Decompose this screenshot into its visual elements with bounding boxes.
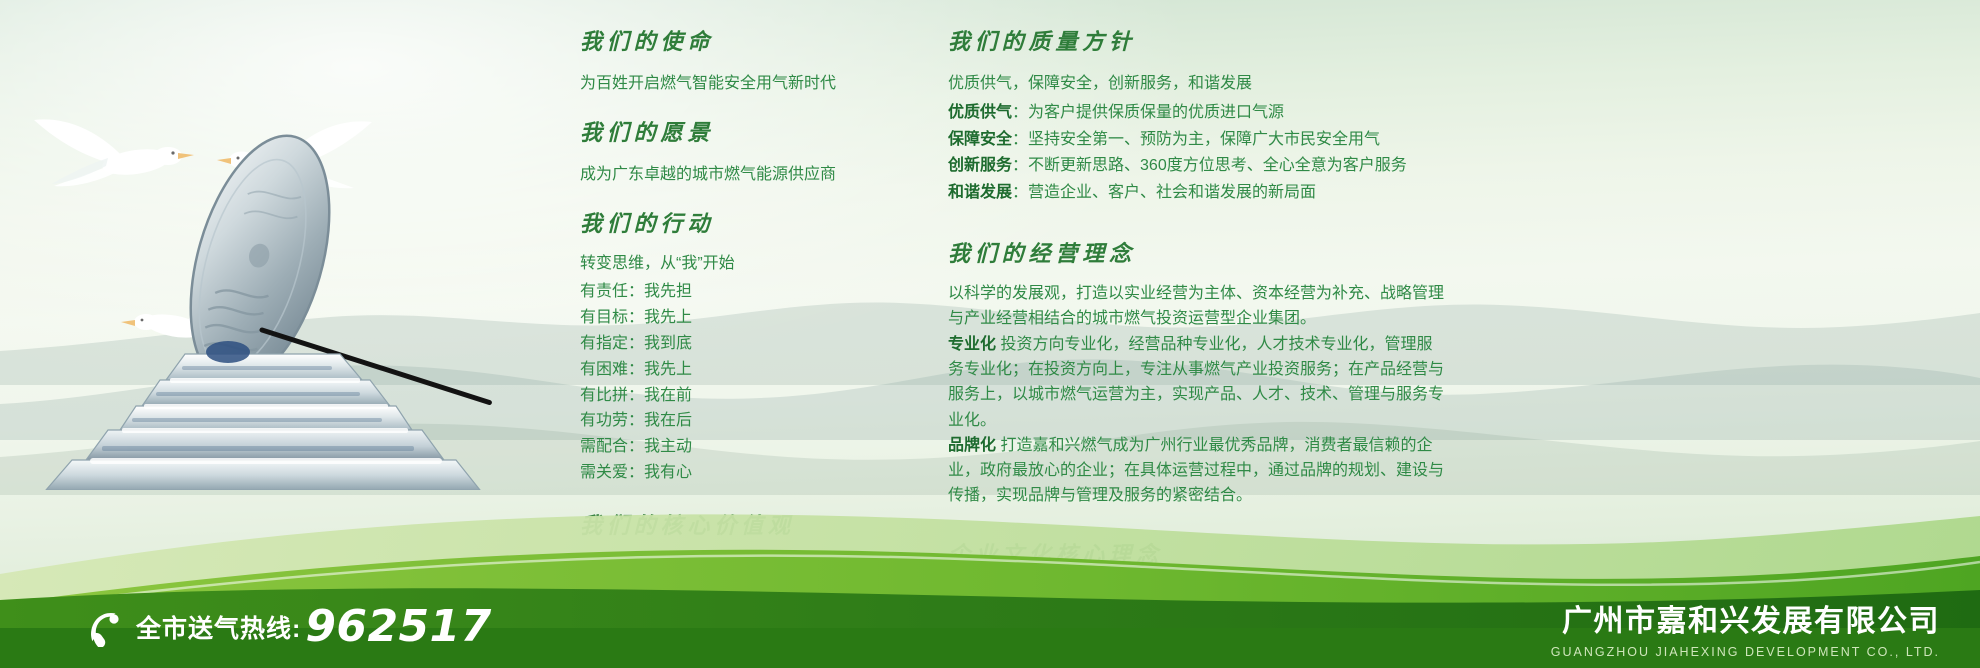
action-line: 转变思维，从“我”开始 <box>580 251 910 277</box>
section-vision: 我们的愿景 成为广东卓越的城市燃气能源供应商 <box>580 115 910 184</box>
action-line: 有困难：我先上 <box>580 357 910 383</box>
hotline-label: 全市送气热线: <box>136 609 301 645</box>
management-philosophy-points: 专业化 投资方向专业化，经营品种专业化，人才技术专业化，管理服务专业化；在投资方… <box>948 332 1448 509</box>
section-quality-policy: 我们的质量方针 优质供气，保障安全，创新服务，和谐发展 优质供气：为客户提供保质… <box>948 24 1448 206</box>
quality-policy-item-lead: 优质供气 <box>948 104 1012 121</box>
philosophy-point-lead: 专业化 <box>948 336 996 353</box>
mission-line: 为百姓开启燃气智能安全用气新时代 <box>580 69 910 93</box>
quality-policy-item-lead: 保障安全 <box>948 131 1012 148</box>
action-line: 需关爱：我有心 <box>580 460 910 486</box>
dove-icon-lower <box>116 278 266 360</box>
management-philosophy-intro: 以科学的发展观，打造以实业经营为主体、资本经营为补充、战略管理与产业经营相结合的… <box>948 281 1448 332</box>
culture-core-heading: 企业文化核心理念 <box>948 537 1448 569</box>
right-text-column: 我们的质量方针 优质供气，保障安全，创新服务，和谐发展 优质供气：为客户提供保质… <box>948 24 1448 606</box>
sundial-monument-image <box>10 130 530 490</box>
section-action: 我们的行动 转变思维，从“我”开始有责任：我先担有目标：我先上有指定：我到底有困… <box>580 206 910 486</box>
action-line: 有责任：我先担 <box>580 279 910 305</box>
left-text-column: 我们的使命 为百姓开启燃气智能安全用气新时代 我们的愿景 成为广东卓越的城市燃气… <box>580 24 910 631</box>
action-line: 有指定：我到底 <box>580 331 910 357</box>
quality-policy-item: 优质供气：为客户提供保质保量的优质进口气源 <box>948 100 1448 127</box>
action-line: 有目标：我先上 <box>580 305 910 331</box>
core-values-heading: 我们的核心价值观 <box>580 508 910 540</box>
quality-policy-item: 保障安全：坚持安全第一、预防为主，保障广大市民安全用气 <box>948 127 1448 154</box>
company-identity: 广州市嘉和兴发展有限公司 GUANGZHOU JIAHEXING DEVELOP… <box>1551 596 1980 659</box>
action-line: 有比拼：我在前 <box>580 383 910 409</box>
action-heading: 我们的行动 <box>580 206 910 238</box>
action-line-list: 转变思维，从“我”开始有责任：我先担有目标：我先上有指定：我到底有困难：我先上有… <box>580 251 910 486</box>
company-name-en: GUANGZHOU JIAHEXING DEVELOPMENT CO., LTD… <box>1551 645 1940 659</box>
management-philosophy-heading: 我们的经营理念 <box>948 236 1448 268</box>
company-name-cn: 广州市嘉和兴发展有限公司 <box>1551 596 1940 640</box>
core-value-item: 创新：永恒创新，精细不止 <box>580 553 910 579</box>
quality-policy-item: 创新服务：不断更新思路、360度方位思考、全心全意为客户服务 <box>948 153 1448 180</box>
mission-heading: 我们的使命 <box>580 24 910 56</box>
section-mission: 我们的使命 为百姓开启燃气智能安全用气新时代 <box>580 24 910 93</box>
vision-heading: 我们的愿景 <box>580 115 910 147</box>
action-line: 需配合：我主动 <box>580 434 910 460</box>
quality-policy-heading: 我们的质量方针 <box>948 24 1448 56</box>
philosophy-point: 品牌化 打造嘉和兴燃气成为广州行业最优秀品牌，消费者最信赖的企业，政府最放心的企… <box>948 433 1448 509</box>
quality-policy-item-lead: 创新服务 <box>948 157 1012 174</box>
philosophy-point: 专业化 投资方向专业化，经营品种专业化，人才技术专业化，管理服务专业化；在投资方… <box>948 332 1448 433</box>
phone-icon <box>84 607 124 647</box>
core-value-item-lead: 创新 <box>580 557 612 574</box>
quality-policy-summary: 优质供气，保障安全，创新服务，和谐发展 <box>948 69 1448 93</box>
quality-policy-list: 优质供气：为客户提供保质保量的优质进口气源保障安全：坚持安全第一、预防为主，保障… <box>948 100 1448 206</box>
philosophy-point-lead: 品牌化 <box>948 437 996 454</box>
dove-icon-upper <box>216 112 376 198</box>
footer-content: 全市送气热线: 962517 广州市嘉和兴发展有限公司 GUANGZHOU JI… <box>0 586 1980 668</box>
dove-icon-left <box>28 108 208 198</box>
poster-canvas: 我们的使命 为百姓开启燃气智能安全用气新时代 我们的愿景 成为广东卓越的城市燃气… <box>0 0 1980 668</box>
quality-policy-item-lead: 和谐发展 <box>948 184 1012 201</box>
vision-line: 成为广东卓越的城市燃气能源供应商 <box>580 160 910 184</box>
section-management-philosophy: 我们的经营理念 以科学的发展观，打造以实业经营为主体、资本经营为补充、战略管理与… <box>948 236 1448 508</box>
hotline-number: 962517 <box>305 605 491 649</box>
action-line: 有功劳：我在后 <box>580 408 910 434</box>
hotline-block: 全市送气热线: 962517 <box>0 605 492 649</box>
quality-policy-item: 和谐发展：营造企业、客户、社会和谐发展的新局面 <box>948 180 1448 207</box>
